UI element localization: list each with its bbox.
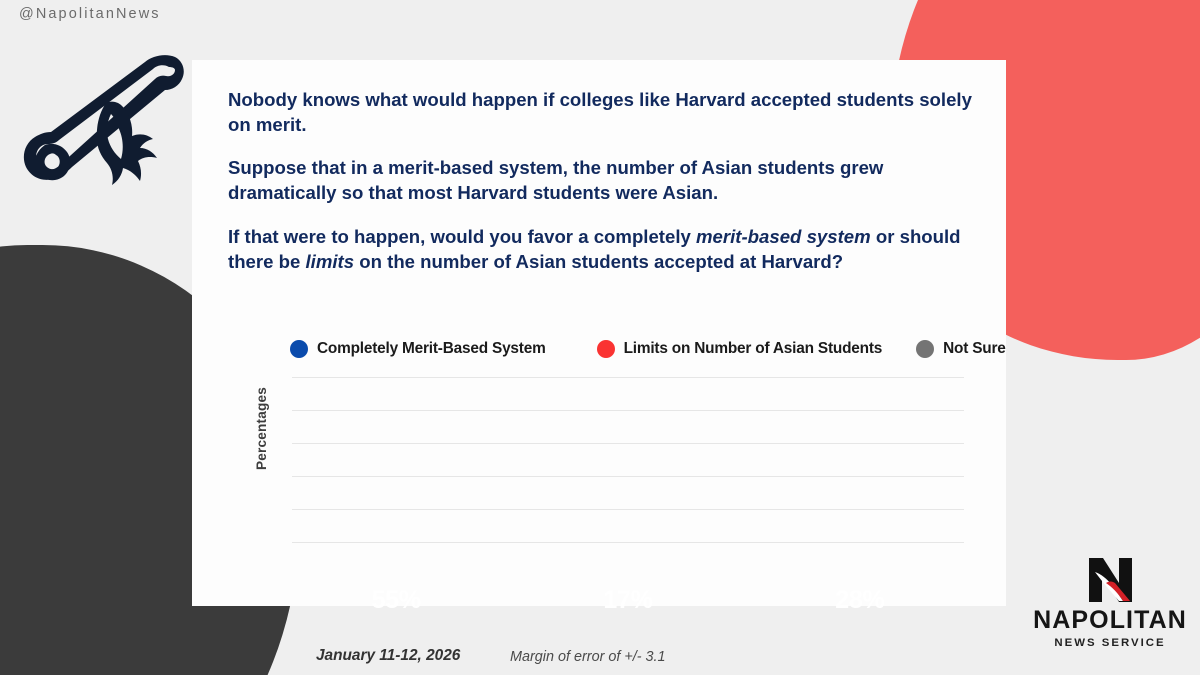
social-handle-watermark: @NapolitanNews: [19, 6, 161, 22]
legend-swatch-red-icon: [597, 340, 615, 358]
question-paragraph-3: If that were to happen, would you favor …: [228, 225, 980, 274]
poll-question: Nobody knows what would happen if colleg…: [228, 88, 980, 274]
brand-logo: NAPOLITAN NEWS SERVICE: [1030, 556, 1190, 649]
chart-plot-area: 55% 17% 28%: [292, 378, 964, 576]
brand-name: NAPOLITAN: [1030, 608, 1190, 633]
chart-y-axis-label: Percentages: [254, 387, 269, 470]
legend-swatch-blue-icon: [290, 340, 308, 358]
chart-bars: 55% 17% 28%: [292, 378, 964, 576]
question-p3-part-a: If that were to happen, would you favor …: [228, 226, 696, 247]
question-p3-emphasis-2: limits: [306, 251, 355, 272]
results-bar-chart: Percentages 55% 17%: [254, 378, 964, 576]
poll-graphic-canvas: @NapolitanNews Nobody knows what would h…: [0, 0, 1200, 675]
question-paragraph-1: Nobody knows what would happen if colleg…: [228, 88, 980, 137]
legend-swatch-gray-icon: [916, 340, 934, 358]
bar-value-limits: 17%: [524, 586, 732, 615]
legend-item-merit-based: Completely Merit-Based System: [290, 340, 546, 358]
question-paragraph-2: Suppose that in a merit-based system, th…: [228, 156, 980, 205]
bar-value-not-sure: 28%: [756, 586, 964, 615]
napolitan-n-icon: [1079, 556, 1141, 604]
diploma-scroll-icon: [12, 45, 202, 215]
legend-label-not-sure: Not Sure: [943, 340, 1006, 358]
legend-label-limits: Limits on Number of Asian Students: [624, 340, 883, 358]
brand-subtitle: NEWS SERVICE: [1030, 638, 1190, 649]
legend-label-merit-based: Completely Merit-Based System: [317, 340, 546, 358]
question-p3-emphasis-1: merit-based system: [696, 226, 871, 247]
margin-of-error: Margin of error of +/- 3.1: [510, 649, 666, 665]
poll-card: Nobody knows what would happen if colleg…: [192, 60, 1006, 606]
question-p3-part-c: on the number of Asian students accepted…: [354, 251, 843, 272]
legend-item-not-sure: Not Sure: [916, 340, 1006, 358]
legend-item-limits: Limits on Number of Asian Students: [597, 340, 883, 358]
poll-date: January 11-12, 2026: [316, 647, 460, 665]
chart-legend: Completely Merit-Based System Limits on …: [290, 340, 990, 358]
bar-value-merit-based: 55%: [292, 586, 500, 615]
